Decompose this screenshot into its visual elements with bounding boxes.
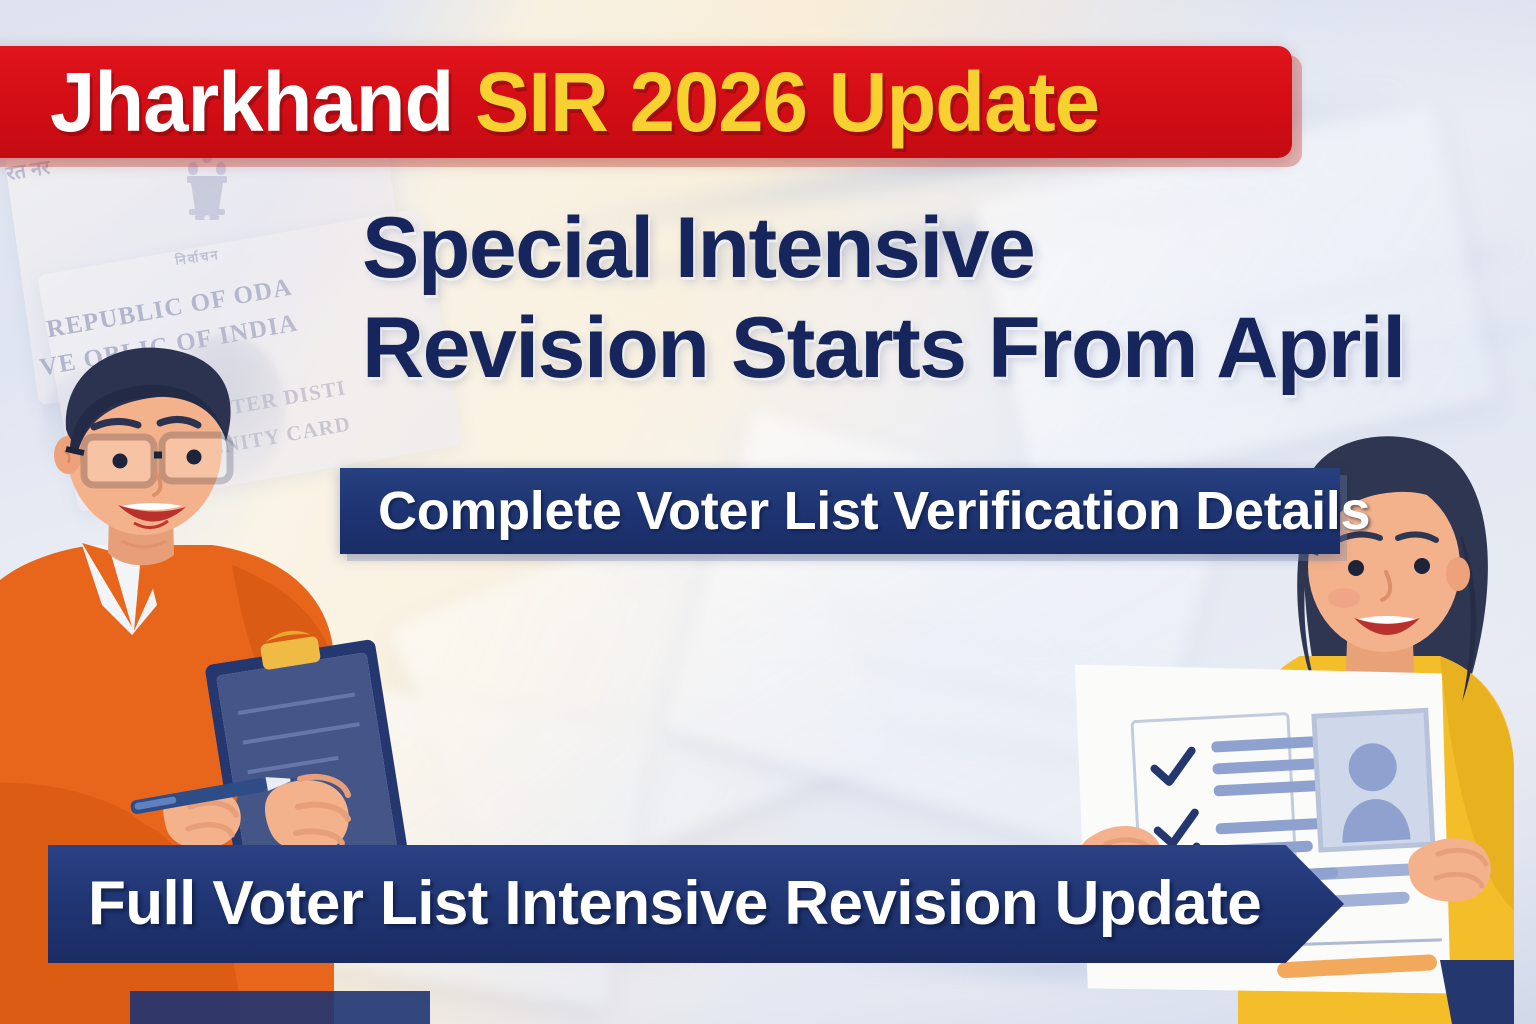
headline-line-1: Special Intensive — [362, 198, 1522, 298]
top-red-banner: Jharkhand SIR 2026 Update — [0, 46, 1292, 158]
bottom-banner-text: Full Voter List Intensive Revision Updat… — [88, 871, 1261, 937]
headline: Special Intensive Revision Starts From A… — [362, 198, 1522, 398]
sub-banner-text: Complete Voter List Verification Details — [378, 482, 1370, 540]
top-banner-title-white: Jharkhand — [50, 55, 475, 149]
headline-line-2: Revision Starts From April — [362, 298, 1522, 398]
top-banner-title: Jharkhand SIR 2026 Update — [50, 59, 1099, 145]
poster-root: रत नर भारत निर निर्वाचन REPUBLIC OF ODA … — [0, 0, 1536, 1024]
sub-banner: Complete Voter List Verification Details — [340, 468, 1340, 554]
bottom-arrow-banner: Full Voter List Intensive Revision Updat… — [48, 845, 1344, 963]
top-banner-title-yellow: SIR 2026 Update — [475, 55, 1099, 149]
